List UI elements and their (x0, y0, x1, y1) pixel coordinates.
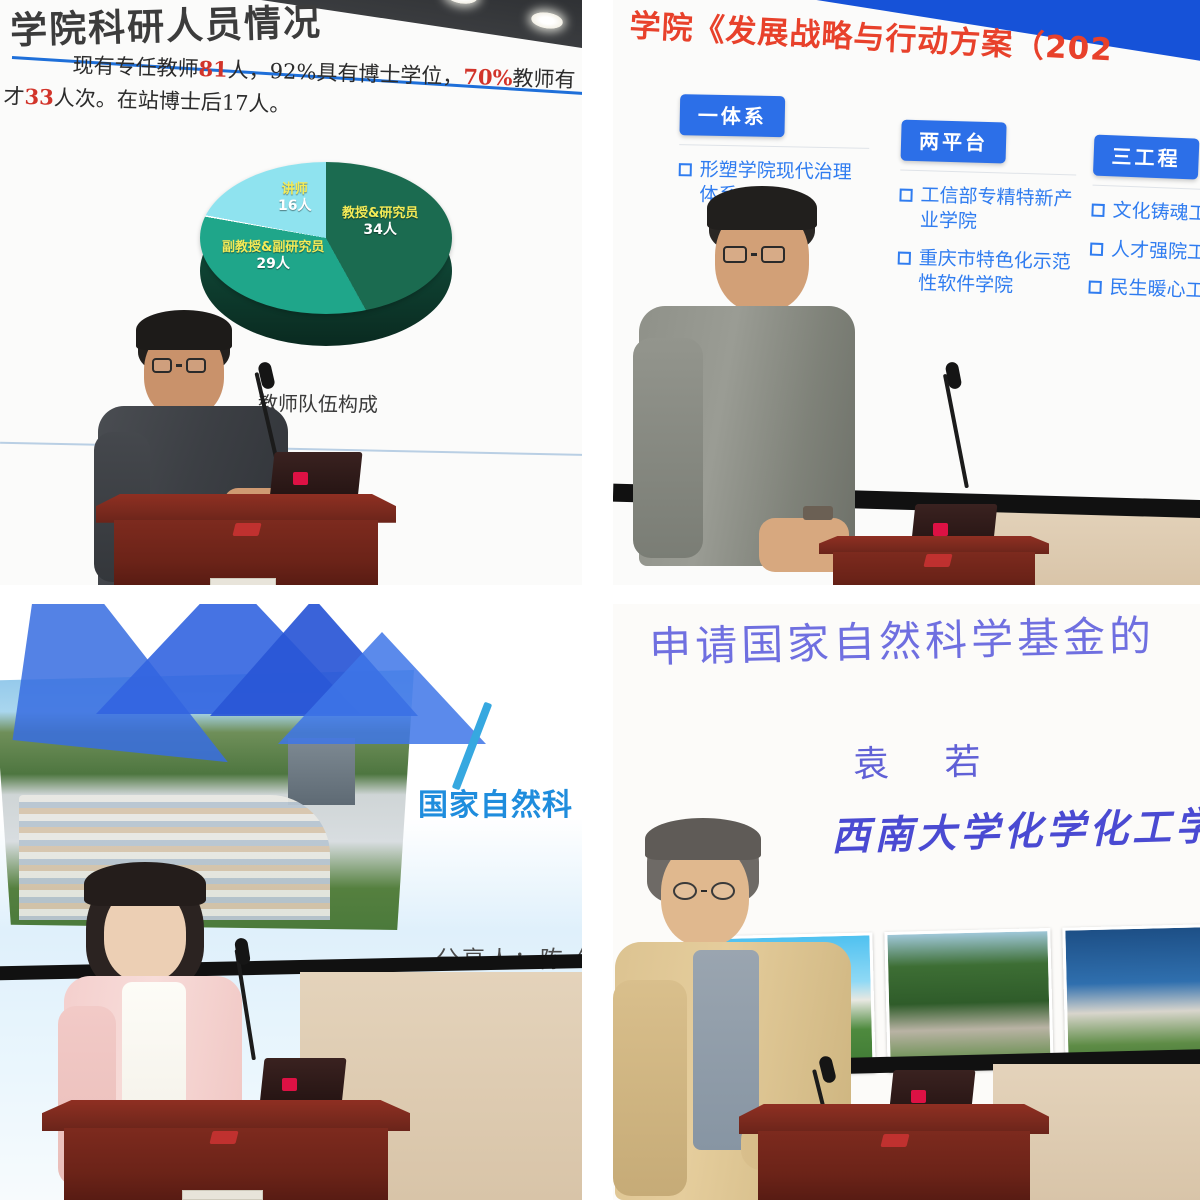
body-text-part: 人， (227, 58, 270, 83)
checkbox-square-icon (1088, 281, 1101, 294)
podium-label-plate (182, 1190, 263, 1199)
glasses-lens (711, 882, 735, 900)
pie-slice-label-assoc-professor: 副教授&副研究员 29人 (222, 240, 324, 274)
photo-collage: 学院科研人员情况 现有专任教师81人，92%具有博士学位，70%教师有 才33人… (0, 0, 1200, 1200)
glasses-bridge (751, 253, 757, 255)
podium-brand-icon (880, 1134, 909, 1147)
bullet-item: 民生暖心工程 (1088, 275, 1200, 307)
laptop-screen (259, 1058, 346, 1106)
column-three-projects: 三工程 文化铸魂工程 人才强院工程 民生暖心工程 (1088, 135, 1200, 321)
lectern-laptop[interactable] (272, 452, 360, 500)
podium-brand-icon (923, 554, 952, 567)
slide-body-text: 现有专任教师81人，92%具有博士学位，70%教师有 才33人次。在站博士后17… (0, 47, 582, 130)
column-divider (679, 144, 869, 149)
column-tag: 三工程 (1093, 135, 1199, 180)
slide-author: 袁 若 (852, 732, 1003, 787)
stat-81: 81 (198, 56, 228, 82)
glasses-icon (723, 246, 785, 263)
hair-front (707, 186, 817, 230)
campus-tower (288, 738, 355, 806)
body-text-part: 才 (3, 84, 25, 109)
bullet-item: 重庆市特色化示范性软件学院 (897, 246, 1074, 300)
checkbox-square-icon (679, 163, 692, 176)
podium (42, 1100, 410, 1200)
podium (819, 536, 1049, 585)
left-arm (633, 338, 703, 558)
campus-photo (885, 928, 1054, 1072)
laptop-logo-icon (933, 523, 948, 536)
stat-17: 17 (221, 90, 248, 115)
column-tag: 一体系 (679, 94, 785, 137)
laptop-screen (269, 452, 362, 500)
panel-bottom-right: 申请国家自然科学基金的 袁 若 西南大学化学化工学院 (613, 604, 1200, 1200)
glasses-lens (761, 246, 785, 263)
laptop-logo-icon (282, 1078, 297, 1091)
stat-70pct: 70% (463, 64, 513, 90)
glasses-lens (186, 358, 206, 373)
bullet-item: 文化铸魂工程 (1091, 198, 1200, 230)
glasses-lens (152, 358, 172, 373)
panel-top-right: 学院《发展战略与行动方案（202 一体系 形塑学院现代治理体系 两平台 工信部专… (613, 0, 1200, 585)
slide-title: 申请国家自然科学基金的 (648, 604, 1155, 675)
microphone (252, 948, 256, 1060)
campus-photo (1062, 924, 1200, 1068)
microphone (965, 372, 969, 488)
hair-front (645, 818, 761, 860)
laptop-logo-icon (911, 1090, 926, 1103)
podium-brand-icon (210, 1131, 239, 1144)
body-text-part: 现有专任教师 (72, 53, 199, 81)
body-text-part: 具有博士学位， (316, 60, 464, 88)
checkbox-square-icon (898, 252, 911, 265)
laptop-logo-icon (293, 472, 308, 485)
glasses-lens (723, 246, 747, 263)
left-arm (613, 980, 687, 1196)
stat-92pct: 92% (269, 59, 316, 84)
pie-slice-label-professor: 教授&研究员 34人 (342, 206, 418, 240)
checkbox-square-icon (1091, 204, 1104, 217)
body-text-part: 人次。在站博士后 (54, 85, 223, 114)
bullet-item: 人才强院工程 (1090, 236, 1200, 268)
body-text-part: 人。 (248, 91, 291, 116)
slide-organization: 西南大学化学化工学院 (830, 794, 1200, 862)
glasses-bridge (176, 364, 182, 366)
podium (739, 1104, 1049, 1200)
panel-bottom-left: 国家自然科 分享人：陈 红 (0, 604, 582, 1200)
pie-slice-label-lecturer: 讲师 16人 (278, 182, 311, 216)
stat-33: 33 (24, 83, 54, 109)
panel-top-left: 学院科研人员情况 现有专任教师81人，92%具有博士学位，70%教师有 才33人… (0, 0, 582, 585)
podium-top (739, 1104, 1049, 1134)
glasses-icon (673, 882, 735, 900)
wristwatch (803, 506, 833, 520)
slide-title: 学院科研人员情况 (9, 0, 322, 54)
column-tag: 两平台 (901, 120, 1007, 164)
hair-front (136, 310, 232, 350)
glasses-icon (152, 358, 206, 373)
podium-brand-icon (232, 523, 261, 536)
glasses-lens (673, 882, 697, 900)
hair-front (84, 862, 206, 906)
bullet-item: 工信部专精特新产业学院 (899, 183, 1076, 237)
body-text-part: 教师有 (512, 66, 576, 92)
podium (96, 494, 396, 585)
checkbox-square-icon (1090, 242, 1103, 255)
glasses-bridge (701, 890, 707, 892)
checkbox-square-icon (899, 189, 912, 202)
decorative-triangle (278, 632, 486, 744)
slide-heading: 国家自然科 (418, 780, 573, 824)
podium-label-plate (210, 578, 276, 585)
column-two-platforms: 两平台 工信部专精特新产业学院 重庆市特色化示范性软件学院 (896, 120, 1077, 315)
lectern-laptop[interactable] (262, 1058, 344, 1106)
speaker-figure (633, 188, 873, 585)
column-divider (900, 170, 1076, 176)
podium-top (42, 1100, 410, 1131)
column-divider (1093, 185, 1200, 193)
podium-top (96, 494, 396, 523)
